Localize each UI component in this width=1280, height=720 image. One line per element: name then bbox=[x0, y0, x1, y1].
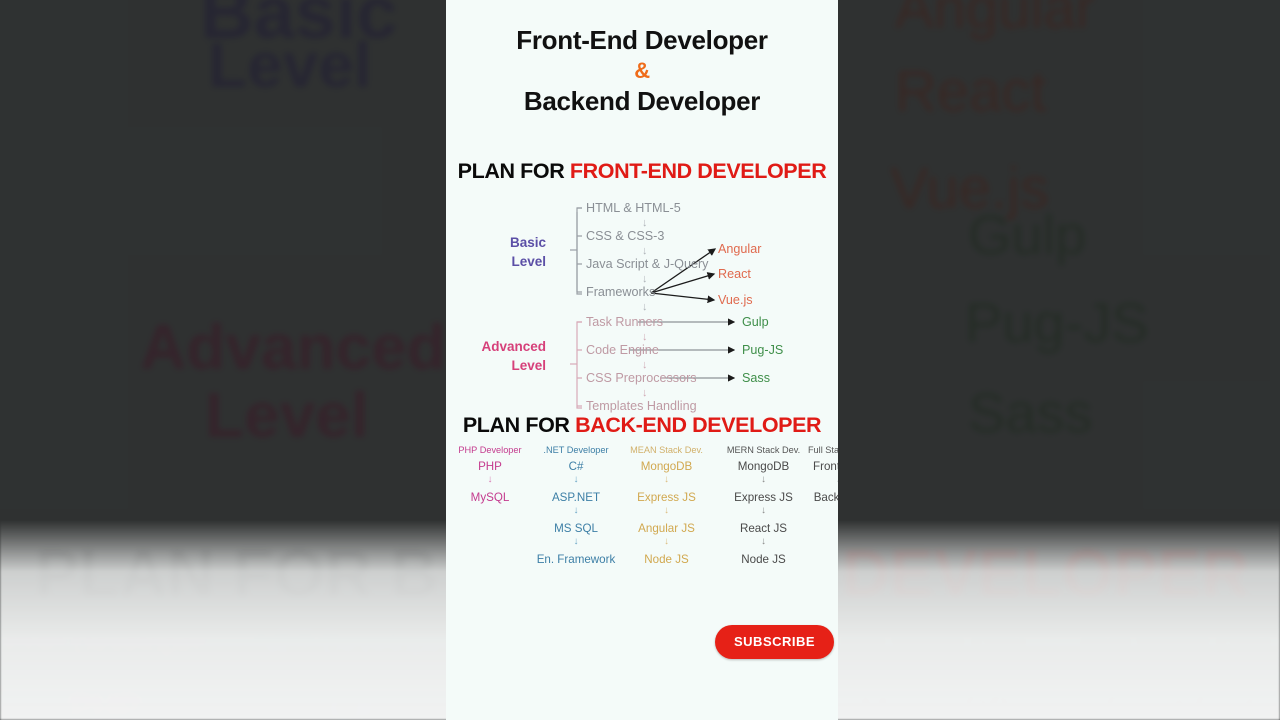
backend-cell-dotnet-0: C# bbox=[526, 460, 626, 473]
backend-cell-dotnet-2: MS SQL bbox=[526, 522, 626, 535]
backend-heading-accent: BACK-END DEVELOPER bbox=[575, 413, 821, 437]
backend-column-mean: MEAN Stack Dev. MongoDB ↓ Express JS ↓ A… bbox=[614, 445, 719, 566]
backend-column-dotnet: .NET Developer C# ↓ ASP.NET ↓ MS SQL ↓ E… bbox=[526, 445, 626, 566]
backend-cell-mean-1: Express JS bbox=[614, 491, 719, 504]
backend-cell-mean-3: Node JS bbox=[614, 553, 719, 566]
frontend-section-heading: PLAN FOR FRONT-END DEVELOPER bbox=[446, 159, 838, 184]
backend-cell-dotnet-3: En. Framework bbox=[526, 553, 626, 566]
backend-arrow-dotnet-0: ↓ bbox=[526, 474, 626, 486]
frontend-heading-accent: FRONT-END DEVELOPER bbox=[570, 159, 826, 183]
backend-cell-mean-2: Angular JS bbox=[614, 522, 719, 535]
backend-arrow-fullstack-0: ↓ bbox=[791, 474, 838, 486]
backend-arrow-mern-2: ↓ bbox=[711, 536, 816, 548]
backend-cell-php-1: MySQL bbox=[446, 491, 534, 504]
level-label-basic: Basic Level bbox=[460, 233, 546, 271]
backend-cell-mean-0: MongoDB bbox=[614, 460, 719, 473]
backend-arrow-mean-1: ↓ bbox=[614, 505, 719, 517]
level-basic-line1: Basic bbox=[460, 233, 546, 252]
tree-arrow-6: ↓ bbox=[642, 360, 648, 371]
level-label-advanced: Advanced Level bbox=[460, 337, 546, 375]
leaf-angular: Angular bbox=[718, 242, 761, 256]
backend-section-heading: PLAN FOR BACK-END DEVELOPER bbox=[446, 413, 838, 438]
level-basic-line2: Level bbox=[460, 252, 546, 271]
backend-cell-fullstack-1: Back End bbox=[791, 491, 838, 504]
backend-col-header-fullstack: Full Stack Dev. bbox=[791, 445, 838, 455]
backend-cell-mern-3: Node JS bbox=[711, 553, 816, 566]
backend-cell-fullstack-0: Front End bbox=[791, 460, 838, 473]
backend-column-php: PHP Developer PHP ↓ MySQL bbox=[446, 445, 534, 504]
tree-item-css-preprocessors: CSS Preprocessors bbox=[586, 371, 697, 385]
level-advanced-line2: Level bbox=[460, 356, 546, 375]
tree-arrow-5: ↓ bbox=[642, 332, 648, 343]
backend-cell-mern-2: React JS bbox=[711, 522, 816, 535]
backend-arrow-mean-2: ↓ bbox=[614, 536, 719, 548]
tree-item-templates: Templates Handling bbox=[586, 399, 697, 413]
backend-col-header-php: PHP Developer bbox=[446, 445, 534, 455]
tree-item-code-engine: Code Engine bbox=[586, 343, 659, 357]
leaf-vuejs: Vue.js bbox=[718, 293, 753, 307]
tree-arrow-7: ↓ bbox=[642, 388, 648, 399]
backend-arrow-php-0: ↓ bbox=[446, 474, 534, 486]
backend-cell-dotnet-1: ASP.NET bbox=[526, 491, 626, 504]
backend-stack-table: PHP Developer PHP ↓ MySQL .NET Developer… bbox=[446, 445, 838, 590]
tree-arrow-4: ↓ bbox=[642, 302, 648, 313]
backend-cell-php-0: PHP bbox=[446, 460, 534, 473]
backend-arrow-dotnet-1: ↓ bbox=[526, 505, 626, 517]
leaf-sass: Sass bbox=[742, 371, 770, 385]
level-advanced-line1: Advanced bbox=[460, 337, 546, 356]
main-title: Front-End Developer & Backend Developer bbox=[446, 25, 838, 117]
leaf-gulp: Gulp bbox=[742, 315, 769, 329]
backend-arrow-mean-0: ↓ bbox=[614, 474, 719, 486]
frontend-roadmap-tree: Basic Level Advanced Level HTML & HTML-5… bbox=[446, 192, 838, 410]
tree-item-task-runners: Task Runners bbox=[586, 315, 663, 329]
tree-item-frameworks: Frameworks bbox=[586, 285, 655, 299]
title-ampersand: & bbox=[446, 58, 838, 84]
tree-item-css: CSS & CSS-3 bbox=[586, 229, 664, 243]
tree-item-javascript: Java Script & J-Query bbox=[586, 257, 708, 271]
backend-arrow-dotnet-2: ↓ bbox=[526, 536, 626, 548]
tree-item-html: HTML & HTML-5 bbox=[586, 201, 681, 215]
tree-arrow-3: ↓ bbox=[642, 274, 648, 285]
leaf-pugjs: Pug-JS bbox=[742, 343, 783, 357]
backend-col-header-mean: MEAN Stack Dev. bbox=[614, 445, 719, 455]
leaf-react: React bbox=[718, 267, 751, 281]
video-content-panel: Front-End Developer & Backend Developer … bbox=[446, 0, 838, 720]
tree-arrow-2: ↓ bbox=[642, 246, 648, 257]
title-line-2: Backend Developer bbox=[446, 86, 838, 117]
tree-arrow-1: ↓ bbox=[642, 218, 648, 229]
backend-column-fullstack: Full Stack Dev. Front End ↓ Back End bbox=[791, 445, 838, 504]
backend-heading-plain: PLAN FOR bbox=[463, 413, 575, 437]
backend-arrow-mern-1: ↓ bbox=[711, 505, 816, 517]
subscribe-button[interactable]: SUBSCRIBE bbox=[715, 625, 834, 659]
frontend-heading-plain: PLAN FOR bbox=[458, 159, 570, 183]
backend-col-header-dotnet: .NET Developer bbox=[526, 445, 626, 455]
title-line-1: Front-End Developer bbox=[446, 25, 838, 56]
